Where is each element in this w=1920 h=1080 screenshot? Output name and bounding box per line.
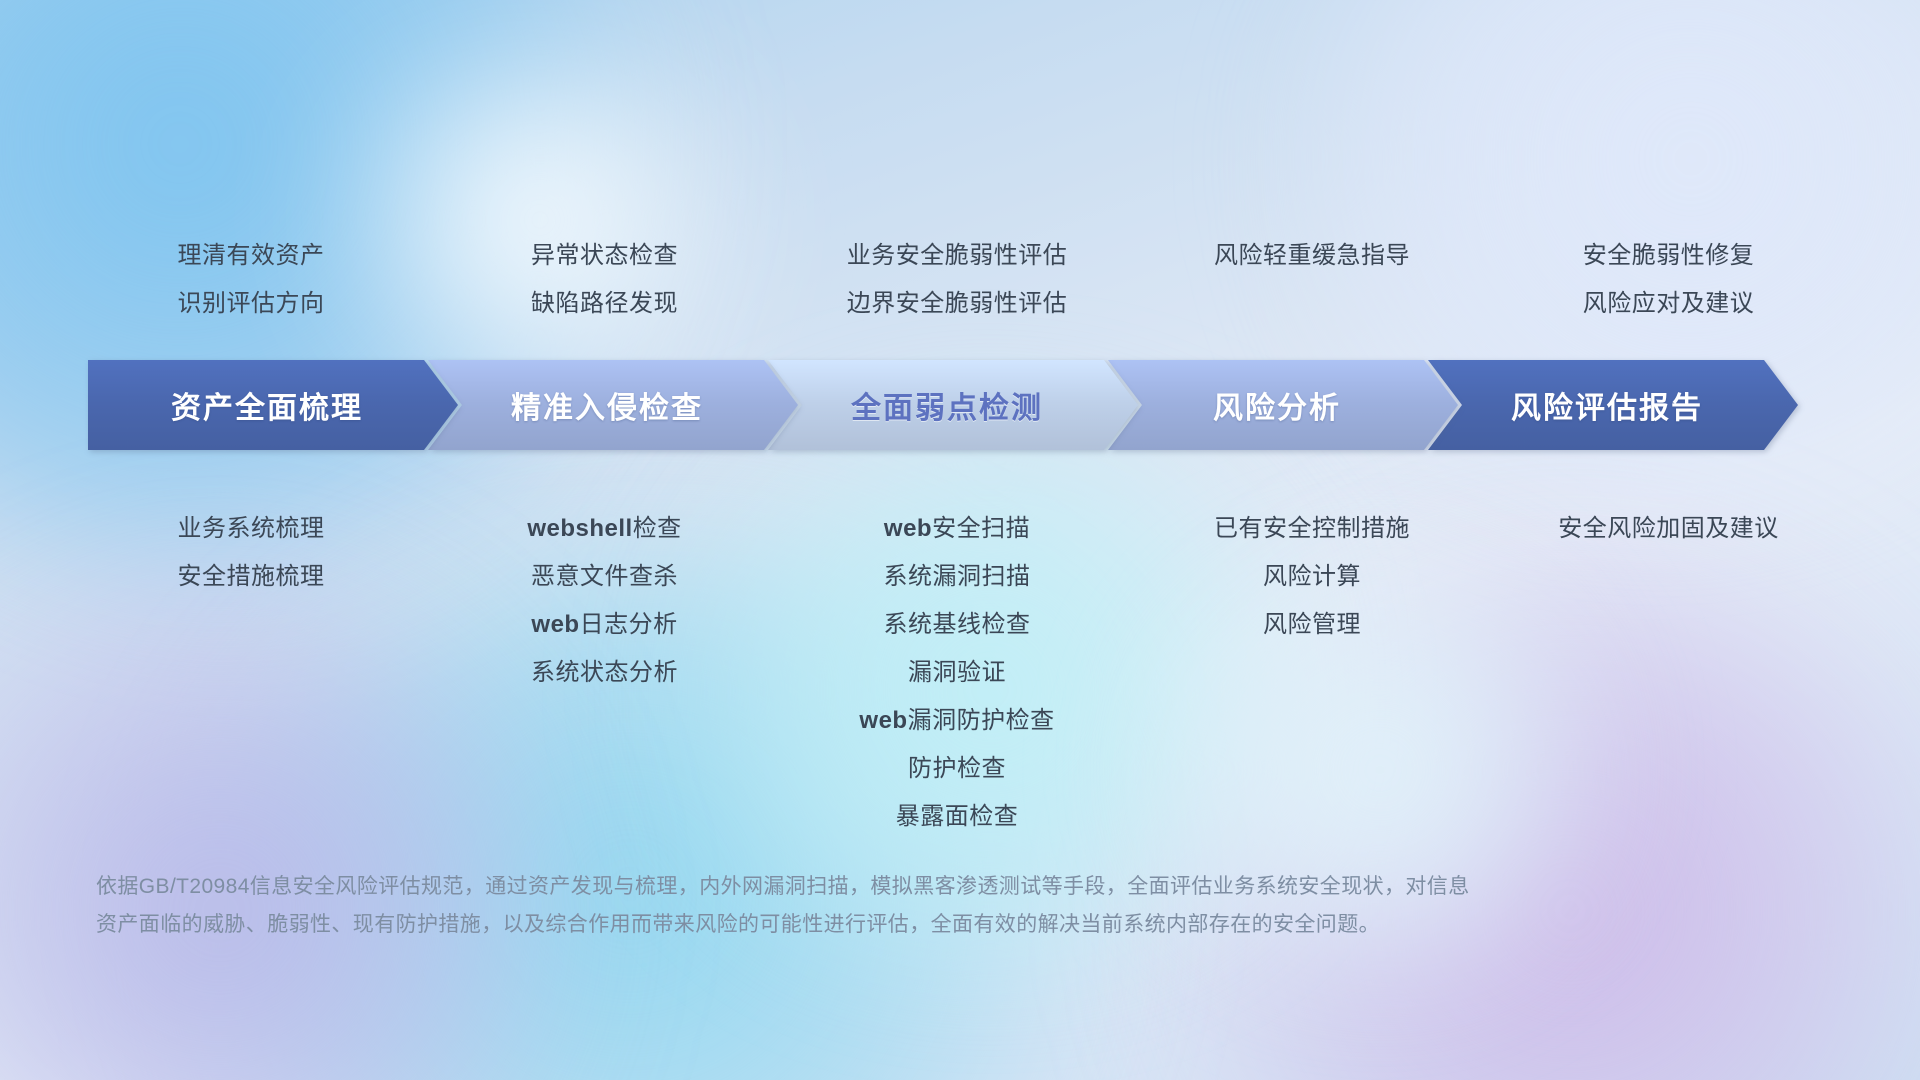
- bottom-item: web日志分析: [531, 601, 677, 649]
- stage-title: 风险评估报告: [1511, 383, 1703, 427]
- stage-chevron-weakness-detection[interactable]: 全面弱点检测: [768, 360, 1138, 450]
- bottom-item: 安全措施梳理: [178, 553, 325, 601]
- bottom-item: 系统状态分析: [531, 649, 678, 697]
- stage-title: 精准入侵检查: [511, 383, 703, 427]
- stage-chevron-intrusion-check[interactable]: 精准入侵检查: [428, 360, 798, 450]
- process-diagram: 理清有效资产 识别评估方向 异常状态检查 缺陷路径发现 业务安全脆弱性评估 边界…: [0, 0, 1920, 1080]
- bottom-items-risk-analysis: 已有安全控制措施 风险计算 风险管理: [1137, 505, 1487, 649]
- stage-chevron-asset-inventory[interactable]: 资产全面梳理: [88, 360, 458, 450]
- stage-title: 全面弱点检测: [851, 383, 1043, 427]
- top-item: 风险轻重缓急指导: [1214, 232, 1410, 280]
- bottom-item: 恶意文件查杀: [531, 553, 678, 601]
- top-item: 理清有效资产: [178, 232, 325, 280]
- top-item: 缺陷路径发现: [531, 280, 678, 328]
- top-item: 异常状态检查: [531, 232, 678, 280]
- top-items-asset-inventory: 理清有效资产 识别评估方向: [70, 232, 432, 328]
- top-item: 业务安全脆弱性评估: [847, 232, 1068, 280]
- bottom-item: 风险管理: [1263, 601, 1361, 649]
- bottom-item: 业务系统梳理: [178, 505, 325, 553]
- bottom-item: 安全风险加固及建议: [1558, 505, 1779, 553]
- bottom-item: 防护检查: [908, 745, 1006, 793]
- stage-title: 资产全面梳理: [171, 383, 363, 427]
- stage-chevron-risk-report[interactable]: 风险评估报告: [1428, 360, 1798, 450]
- top-items-risk-analysis: 风险轻重缓急指导: [1137, 232, 1487, 328]
- footer-line-1: 依据GB/T20984信息安全风险评估规范，通过资产发现与梳理，内外网漏洞扫描，…: [96, 868, 1596, 906]
- stage-chevron-band: 资产全面梳理 精准入侵检查 全面弱点检测 风险分析 风险评估报告: [88, 360, 1850, 450]
- footer-line-2: 资产面临的威胁、脆弱性、现有防护措施，以及综合作用而带来风险的可能性进行评估，全…: [96, 906, 1596, 944]
- top-items-risk-report: 安全脆弱性修复 风险应对及建议: [1487, 232, 1850, 328]
- top-items-row: 理清有效资产 识别评估方向 异常状态检查 缺陷路径发现 业务安全脆弱性评估 边界…: [70, 232, 1850, 328]
- top-items-intrusion-check: 异常状态检查 缺陷路径发现: [432, 232, 777, 328]
- bottom-items-risk-report: 安全风险加固及建议: [1487, 505, 1850, 553]
- bottom-item: webshell检查: [527, 505, 681, 553]
- bottom-items-asset-inventory: 业务系统梳理 安全措施梳理: [70, 505, 432, 601]
- top-item: 边界安全脆弱性评估: [847, 280, 1068, 328]
- top-item: 识别评估方向: [178, 280, 325, 328]
- bottom-items-row: 业务系统梳理 安全措施梳理 webshell检查 恶意文件查杀 web日志分析 …: [70, 505, 1850, 841]
- top-item: 安全脆弱性修复: [1583, 232, 1755, 280]
- stage-chevron-risk-analysis[interactable]: 风险分析: [1108, 360, 1458, 450]
- bottom-items-intrusion-check: webshell检查 恶意文件查杀 web日志分析 系统状态分析: [432, 505, 777, 697]
- footer-description: 依据GB/T20984信息安全风险评估规范，通过资产发现与梳理，内外网漏洞扫描，…: [96, 868, 1596, 944]
- bottom-item: 系统漏洞扫描: [884, 553, 1031, 601]
- bottom-item: 已有安全控制措施: [1214, 505, 1410, 553]
- top-item: 风险应对及建议: [1583, 280, 1755, 328]
- bottom-item: web漏洞防护检查: [859, 697, 1054, 745]
- bottom-item: web安全扫描: [884, 505, 1030, 553]
- bottom-item: 风险计算: [1263, 553, 1361, 601]
- bottom-items-weakness-detection: web安全扫描 系统漏洞扫描 系统基线检查 漏洞验证 web漏洞防护检查 防护检…: [777, 505, 1137, 841]
- top-items-weakness-detection: 业务安全脆弱性评估 边界安全脆弱性评估: [777, 232, 1137, 328]
- stage-title: 风险分析: [1213, 383, 1341, 427]
- bottom-item: 漏洞验证: [908, 649, 1006, 697]
- bottom-item: 系统基线检查: [884, 601, 1031, 649]
- bottom-item: 暴露面检查: [896, 793, 1019, 841]
